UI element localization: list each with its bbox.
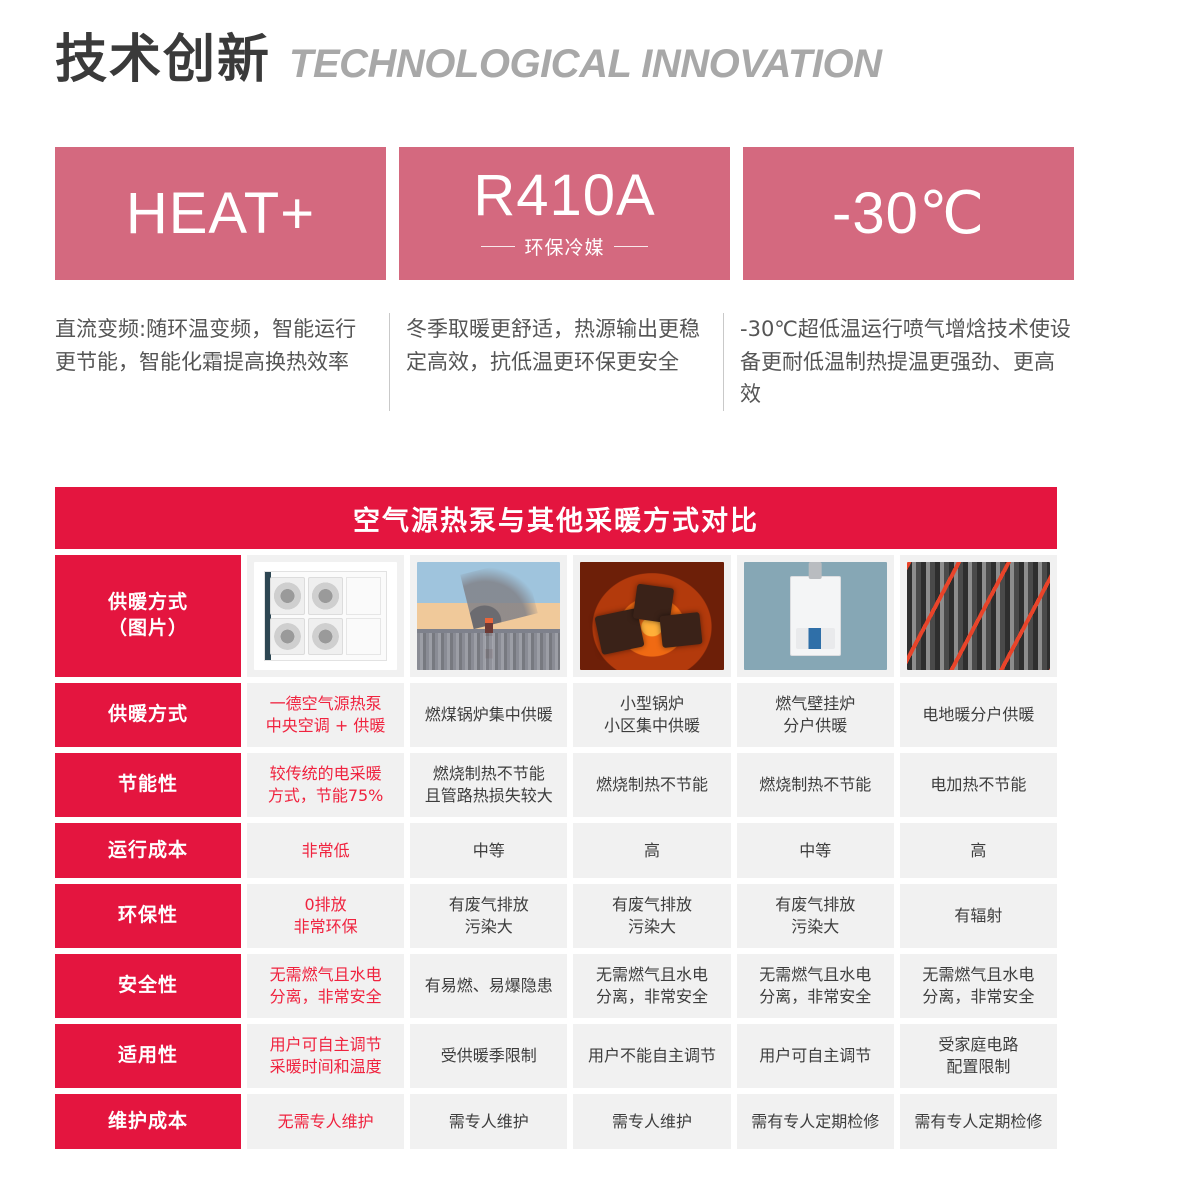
table-cell-text: 一德空气源热泵中央空调 + 供暖 [266, 693, 386, 736]
feature-badge-heat-plus: HEAT+ [55, 147, 386, 280]
table-cell-text: 高 [970, 840, 986, 862]
table-cell-line: 配置限制 [938, 1056, 1018, 1078]
table-cell-line: 需有专人定期检修 [914, 1111, 1042, 1133]
table-cell-line: 分离，非常安全 [596, 986, 708, 1008]
table-cell-text: 受供暖季限制 [441, 1045, 537, 1067]
table-cell: 受家庭电路配置限制 [900, 1024, 1057, 1088]
table-row: 安全性无需燃气且水电分离，非常安全有易燃、易爆隐患无需燃气且水电分离，非常安全无… [55, 954, 1057, 1018]
table-cell-text: 中等 [799, 840, 831, 862]
table-cell-line: 电加热不节能 [930, 774, 1026, 796]
table-cell-image-burning-coal [573, 555, 730, 677]
table-row: 适用性用户可自主调节采暖时间和温度受供暖季限制用户不能自主调节用户可自主调节受家… [55, 1024, 1057, 1088]
heat-pump-photo [254, 562, 397, 670]
table-cell-line: 且管路热损失较大 [425, 785, 553, 807]
feature-badge-minus30c: -30℃ [743, 147, 1074, 280]
table-cell-line: 燃煤锅炉集中供暖 [425, 704, 553, 726]
table-cell-line: 分离，非常安全 [922, 986, 1034, 1008]
row-label: 环保性 [55, 884, 241, 948]
table-cell-text: 需有专人定期检修 [914, 1111, 1042, 1133]
table-cell: 一德空气源热泵中央空调 + 供暖 [247, 683, 404, 747]
table-cell: 中等 [410, 823, 567, 878]
table-cell: 燃气壁挂炉分户供暖 [737, 683, 894, 747]
table-cell-text: 燃烧制热不节能 [596, 774, 708, 796]
table-cell-text: 较传统的电采暖方式，节能75% [268, 763, 384, 806]
table-cell: 中等 [737, 823, 894, 878]
row-label: 节能性 [55, 753, 241, 817]
table-cell-text: 非常低 [302, 840, 350, 862]
table-cell-text: 有易燃、易爆隐患 [425, 975, 553, 997]
feature-badge-r410a: R410A 环保冷媒 [399, 147, 730, 280]
table-cell: 需有专人定期检修 [737, 1094, 894, 1149]
table-cell-text: 小型锅炉小区集中供暖 [604, 693, 700, 736]
table-cell: 非常低 [247, 823, 404, 878]
table-cell-text: 无需燃气且水电分离，非常安全 [596, 964, 708, 1007]
table-cell: 需专人维护 [573, 1094, 730, 1149]
feature-description-list: 直流变频:随环温变频，智能运行更节能，智能化霜提高换热效率 冬季取暖更舒适，热源… [55, 313, 1073, 411]
table-cell: 有辐射 [900, 884, 1057, 948]
table-cell-text: 无需燃气且水电分离，非常安全 [922, 964, 1034, 1007]
table-cell-text: 用户不能自主调节 [588, 1045, 716, 1067]
table-cell-line: 无需燃气且水电 [759, 964, 871, 986]
table-cell-text: 电地暖分户供暖 [922, 704, 1034, 726]
table-cell: 电地暖分户供暖 [900, 683, 1057, 747]
row-label-heating-method-image: 供暖方式 （图片） [55, 555, 241, 677]
table-cell-line: 用户可自主调节 [759, 1045, 871, 1067]
table-cell-line: 有废气排放 [612, 894, 692, 916]
table-cell-line: 无需燃气且水电 [596, 964, 708, 986]
table-cell: 需专人维护 [410, 1094, 567, 1149]
table-cell-line: 燃烧制热不节能 [759, 774, 871, 796]
table-cell-image-smokestack [410, 555, 567, 677]
table-cell-line: 燃气壁挂炉 [775, 693, 855, 715]
description-text: 冬季取暖更舒适，热源输出更稳定高效，抗低温更环保更安全 [406, 313, 707, 378]
comparison-table: 空气源热泵与其他采暖方式对比 供暖方式 （图片） [55, 487, 1057, 1149]
feature-badge-list: HEAT+ R410A 环保冷媒 -30℃ [55, 147, 1074, 280]
table-cell: 高 [573, 823, 730, 878]
table-cell-image-gas-wall-boiler [737, 555, 894, 677]
table-cell-line: 无需专人维护 [278, 1111, 374, 1133]
table-cell-line: 污染大 [449, 916, 529, 938]
table-cell-line: 0排放 [294, 894, 358, 916]
table-cell: 需有专人定期检修 [900, 1094, 1057, 1149]
table-cell-line: 需专人维护 [612, 1111, 692, 1133]
table-cell: 较传统的电采暖方式，节能75% [247, 753, 404, 817]
table-cell-image-electric-floor-heating [900, 555, 1057, 677]
table-cell: 有易燃、易爆隐患 [410, 954, 567, 1018]
table-cell-line: 方式，节能75% [268, 785, 384, 807]
table-row: 运行成本非常低中等高中等高 [55, 823, 1057, 878]
table-cell-line: 一德空气源热泵 [266, 693, 386, 715]
table-cell-line: 用户不能自主调节 [588, 1045, 716, 1067]
feature-description-2: 冬季取暖更舒适，热源输出更稳定高效，抗低温更环保更安全 [389, 313, 723, 411]
table-cell: 有废气排放污染大 [410, 884, 567, 948]
table-cell: 无需燃气且水电分离，非常安全 [900, 954, 1057, 1018]
table-cell-text: 燃气壁挂炉分户供暖 [775, 693, 855, 736]
table-cell-text: 无需专人维护 [278, 1111, 374, 1133]
table-cell: 0排放非常环保 [247, 884, 404, 948]
table-cell-line: 污染大 [612, 916, 692, 938]
feature-description-3: -30℃超低温运行喷气增焓技术使设备更耐低温制热提温更强劲、更高效 [723, 313, 1073, 411]
electric-floor-heating-photo [907, 562, 1050, 670]
table-cell: 燃烧制热不节能 [737, 753, 894, 817]
badge-label: -30℃ [832, 185, 985, 243]
table-cell: 用户可自主调节 [737, 1024, 894, 1088]
table-cell-line: 非常环保 [294, 916, 358, 938]
table-cell-text: 受家庭电路配置限制 [938, 1034, 1018, 1077]
table-cell-line: 非常低 [302, 840, 350, 862]
table-cell-line: 燃烧制热不节能 [425, 763, 553, 785]
table-cell-text: 有辐射 [954, 905, 1002, 927]
page-title-en: TECHNOLOGICAL INNOVATION [289, 44, 881, 84]
table-row: 节能性较传统的电采暖方式，节能75%燃烧制热不节能且管路热损失较大燃烧制热不节能… [55, 753, 1057, 817]
burning-coal-photo [580, 562, 723, 670]
table-cell-line: 中等 [799, 840, 831, 862]
table-cell: 电加热不节能 [900, 753, 1057, 817]
table-cell-line: 小型锅炉 [604, 693, 700, 715]
table-cell: 受供暖季限制 [410, 1024, 567, 1088]
table-cell: 用户可自主调节采暖时间和温度 [247, 1024, 404, 1088]
table-cell-text: 燃烧制热不节能 [759, 774, 871, 796]
badge-label: R410A [473, 167, 655, 225]
table-cell-line: 有废气排放 [449, 894, 529, 916]
table-cell: 高 [900, 823, 1057, 878]
table-cell-line: 需专人维护 [449, 1111, 529, 1133]
description-text: -30℃超低温运行喷气增焓技术使设备更耐低温制热提温更强劲、更高效 [740, 313, 1073, 411]
table-cell: 无需燃气且水电分离，非常安全 [737, 954, 894, 1018]
row-label: 安全性 [55, 954, 241, 1018]
table-cell-text: 需专人维护 [612, 1111, 692, 1133]
rule-left-icon [481, 246, 515, 247]
table-cell-text: 有废气排放污染大 [612, 894, 692, 937]
table-cell-line: 较传统的电采暖 [268, 763, 384, 785]
table-cell-line: 电地暖分户供暖 [922, 704, 1034, 726]
table-cell-line: 分离，非常安全 [759, 986, 871, 1008]
table-row: 维护成本无需专人维护需专人维护需专人维护需有专人定期检修需有专人定期检修 [55, 1094, 1057, 1149]
table-cell-line: 无需燃气且水电 [270, 964, 382, 986]
table-cell-line: 分户供暖 [775, 715, 855, 737]
table-text-rows: 供暖方式一德空气源热泵中央空调 + 供暖燃煤锅炉集中供暖小型锅炉小区集中供暖燃气… [55, 683, 1057, 1149]
table-cell: 小型锅炉小区集中供暖 [573, 683, 730, 747]
comparison-table-body: 供暖方式 （图片） [55, 555, 1057, 1149]
description-text: 直流变频:随环温变频，智能运行更节能，智能化霜提高换热效率 [55, 313, 373, 378]
table-cell-line: 受供暖季限制 [441, 1045, 537, 1067]
table-cell-line: 中等 [473, 840, 505, 862]
table-cell-line: 需有专人定期检修 [751, 1111, 879, 1133]
table-cell-line: 用户可自主调节 [270, 1034, 382, 1056]
table-cell: 无需燃气且水电分离，非常安全 [573, 954, 730, 1018]
table-cell: 燃烧制热不节能且管路热损失较大 [410, 753, 567, 817]
table-cell-line: 有辐射 [954, 905, 1002, 927]
table-cell: 无需专人维护 [247, 1094, 404, 1149]
table-cell: 无需燃气且水电分离，非常安全 [247, 954, 404, 1018]
table-cell-line: 污染大 [775, 916, 855, 938]
table-cell-line: 中央空调 + 供暖 [266, 715, 386, 737]
badge-subtitle-wrap: 环保冷媒 [481, 233, 647, 260]
table-cell-text: 燃烧制热不节能且管路热损失较大 [425, 763, 553, 806]
table-cell-text: 有废气排放污染大 [775, 894, 855, 937]
table-cell: 有废气排放污染大 [573, 884, 730, 948]
table-row: 供暖方式一德空气源热泵中央空调 + 供暖燃煤锅炉集中供暖小型锅炉小区集中供暖燃气… [55, 683, 1057, 747]
table-cell-line: 受家庭电路 [938, 1034, 1018, 1056]
row-label-line2: （图片） [108, 616, 188, 642]
table-cell-text: 中等 [473, 840, 505, 862]
row-label: 适用性 [55, 1024, 241, 1088]
page-title-cn: 技术创新 [55, 34, 271, 86]
table-cell: 有废气排放污染大 [737, 884, 894, 948]
table-cell-line: 分离，非常安全 [270, 986, 382, 1008]
row-label-line1: 供暖方式 [108, 590, 188, 616]
feature-description-1: 直流变频:随环温变频，智能运行更节能，智能化霜提高换热效率 [55, 313, 389, 411]
table-cell-line: 无需燃气且水电 [922, 964, 1034, 986]
table-cell-line: 高 [644, 840, 660, 862]
table-cell-image-heat-pump [247, 555, 404, 677]
table-cell-text: 0排放非常环保 [294, 894, 358, 937]
table-cell-line: 有易燃、易爆隐患 [425, 975, 553, 997]
table-row: 环保性0排放非常环保有废气排放污染大有废气排放污染大有废气排放污染大有辐射 [55, 884, 1057, 948]
table-cell-text: 高 [644, 840, 660, 862]
table-cell-text: 需专人维护 [449, 1111, 529, 1133]
gas-wall-boiler-photo [744, 562, 887, 670]
row-label: 运行成本 [55, 823, 241, 878]
table-cell-text: 用户可自主调节 [759, 1045, 871, 1067]
page-header: 技术创新 TECHNOLOGICAL INNOVATION [55, 34, 881, 86]
row-label: 供暖方式 [55, 683, 241, 747]
row-label: 维护成本 [55, 1094, 241, 1149]
table-row: 供暖方式 （图片） [55, 555, 1057, 677]
table-cell-text: 燃煤锅炉集中供暖 [425, 704, 553, 726]
table-cell-text: 用户可自主调节采暖时间和温度 [270, 1034, 382, 1077]
table-cell-text: 需有专人定期检修 [751, 1111, 879, 1133]
rule-right-icon [614, 246, 648, 247]
table-cell-line: 高 [970, 840, 986, 862]
table-cell-text: 无需燃气且水电分离，非常安全 [270, 964, 382, 1007]
badge-label: HEAT+ [126, 185, 315, 243]
table-cell: 燃烧制热不节能 [573, 753, 730, 817]
table-cell-line: 燃烧制热不节能 [596, 774, 708, 796]
badge-subtitle: 环保冷媒 [524, 233, 604, 260]
table-cell-line: 有废气排放 [775, 894, 855, 916]
table-cell-line: 采暖时间和温度 [270, 1056, 382, 1078]
smokestack-photo [417, 562, 560, 670]
table-cell-line: 小区集中供暖 [604, 715, 700, 737]
table-cell: 燃煤锅炉集中供暖 [410, 683, 567, 747]
table-cell-text: 电加热不节能 [930, 774, 1026, 796]
table-cell-text: 有废气排放污染大 [449, 894, 529, 937]
comparison-table-title: 空气源热泵与其他采暖方式对比 [55, 487, 1057, 549]
table-cell-text: 无需燃气且水电分离，非常安全 [759, 964, 871, 1007]
table-cell: 用户不能自主调节 [573, 1024, 730, 1088]
